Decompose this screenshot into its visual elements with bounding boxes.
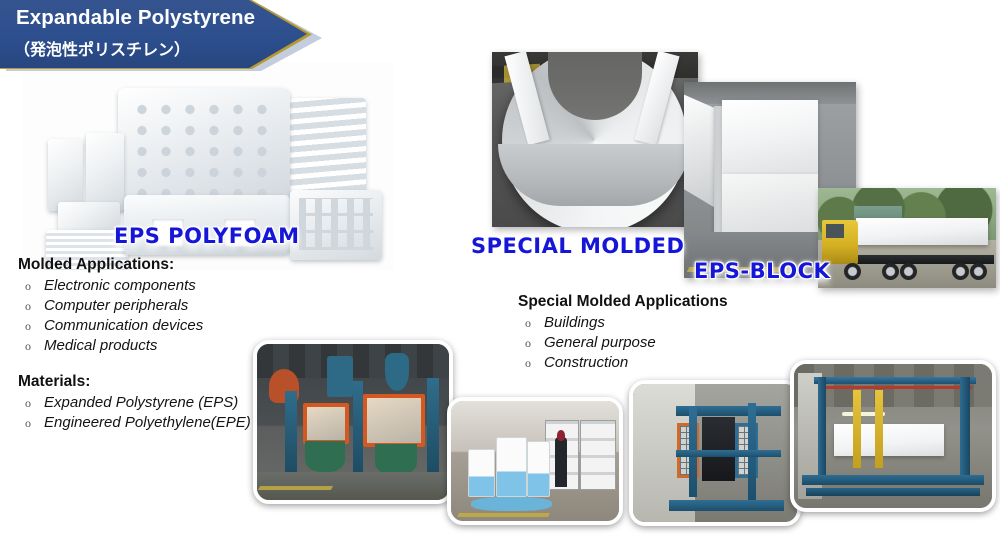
list-item: o Electronic components (18, 276, 288, 296)
list-item: o Buildings (518, 313, 768, 333)
bullet-icon: o (18, 316, 44, 336)
foam-corner-right (86, 133, 124, 211)
warehouse-worker (555, 437, 567, 487)
mould-door-panel (363, 394, 425, 447)
header-banner: Expandable Polystyrene （発泡性ポリスチレン） (0, 0, 330, 70)
page-subtitle-japanese: （発泡性ポリスチレン） (14, 36, 190, 60)
list-item-label: Construction (544, 353, 628, 373)
list-item: o Computer peripherals (18, 296, 288, 316)
mould-door-panel (303, 403, 349, 444)
eps-block-cargo (856, 218, 988, 245)
yellow-guide-rail (875, 390, 883, 468)
list-item-label: Medical products (44, 336, 157, 356)
bullet-icon: o (18, 393, 44, 413)
list-item-label: Engineered Polyethylene(EPE) (44, 413, 251, 433)
machine-base (669, 500, 784, 511)
floor-marking (258, 486, 333, 490)
floor-marking (457, 513, 549, 517)
discharge-chute (375, 444, 417, 475)
truck-wheel (844, 263, 861, 280)
truck-cab-window (826, 224, 844, 238)
list-item: o Construction (518, 353, 768, 373)
label-eps-block: EPS-BLOCK (694, 259, 830, 283)
machine-core (702, 417, 735, 480)
packed-bale (468, 449, 495, 497)
bullet-icon: o (18, 276, 44, 296)
packed-bale (496, 437, 526, 497)
truck-wheel (900, 263, 917, 280)
packed-bale (527, 441, 551, 497)
gantry-column-right (960, 377, 970, 481)
warehouse-packing-photo (447, 397, 623, 525)
foam-tray-right-slots (299, 198, 373, 250)
block-line-scene (794, 364, 992, 508)
bullet-icon: o (518, 353, 544, 373)
material-hopper-cyclone (385, 353, 409, 390)
machine-beam-mid (676, 450, 781, 457)
bullet-icon: o (18, 413, 44, 433)
page-title: Expandable Polystyrene (16, 6, 255, 30)
molded-applications-block: Molded Applications: o Electronic compon… (18, 256, 288, 433)
yellow-guide-rail (853, 390, 861, 468)
spacer (18, 356, 288, 373)
packing-scene (451, 401, 619, 521)
material-hopper-blue (327, 356, 353, 397)
flatbed-trailer (848, 255, 994, 264)
list-item-label: Communication devices (44, 316, 203, 336)
list-item-label: General purpose (544, 333, 656, 353)
list-item-label: Electronic components (44, 276, 196, 296)
bullet-icon: o (18, 296, 44, 316)
discharge-chute (305, 441, 345, 472)
gantry-beam (814, 377, 976, 384)
truck-scene (818, 188, 996, 288)
foam-corner-left (48, 139, 83, 211)
foam-slab-small (58, 202, 120, 232)
machine-column (353, 381, 363, 471)
bullet-icon: o (518, 333, 544, 353)
list-item: o Engineered Polyethylene(EPE) (18, 413, 288, 433)
foam-tray-wells (130, 99, 280, 200)
block-cutting-line-photo (790, 360, 996, 512)
special-molded-scene (492, 52, 698, 227)
truck-wheel (970, 263, 987, 280)
product-rack (580, 420, 615, 490)
blue-wrapping-sheet (471, 497, 552, 511)
materials-heading: Materials: (18, 373, 288, 391)
gantry-column-left (818, 377, 826, 481)
list-item: o Communication devices (18, 316, 288, 336)
bullet-icon: o (518, 313, 544, 333)
special-molded-applications-block: Special Molded Applications o Buildings … (518, 293, 768, 373)
label-eps-polyfoam: EPS POLYFOAM (114, 224, 300, 248)
shape-moulding-machine-photo (629, 380, 801, 526)
list-item: o General purpose (518, 333, 768, 353)
list-item-label: Buildings (544, 313, 605, 333)
conveyor-rail (802, 475, 984, 485)
list-item-label: Expanded Polystyrene (EPS) (44, 393, 238, 413)
special-molded-photo (492, 52, 698, 227)
special-molded-heading: Special Molded Applications (518, 293, 768, 311)
truck-wheel (952, 263, 969, 280)
bullet-icon: o (18, 336, 44, 356)
truck-wheel (882, 263, 899, 280)
machine-column (427, 378, 439, 472)
conveyor-base (806, 488, 980, 497)
eps-block-truck-photo (818, 188, 996, 288)
eps-block-on-line (834, 424, 945, 456)
caged-machine-scene (633, 384, 797, 522)
warehouse-worker-head (557, 430, 565, 441)
list-item: o Medical products (18, 336, 288, 356)
eps-block-upper (722, 100, 818, 174)
list-item: o Expanded Polystyrene (EPS) (18, 393, 288, 413)
gantry-hydraulic-line (818, 386, 972, 389)
foam-tray-top (118, 88, 290, 210)
molded-applications-heading: Molded Applications: (18, 256, 288, 274)
foam-tray-right (290, 190, 382, 260)
label-special-molded: SPECIAL MOLDED (471, 234, 684, 258)
list-item-label: Computer peripherals (44, 296, 188, 316)
